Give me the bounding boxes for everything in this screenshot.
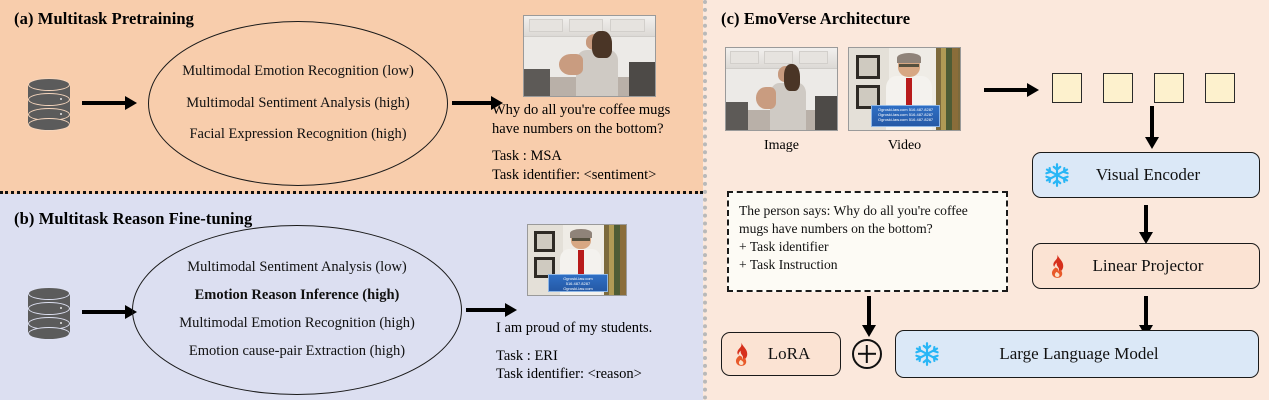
plus-circle-icon — [852, 339, 882, 369]
panel-multitask-reason-finetuning: (b) Multitask Reason Fine-tuning Multimo… — [0, 194, 703, 400]
task-ellipse-a: Multimodal Emotion Recognition (low) Mul… — [148, 21, 448, 186]
thumbnail-video-b: Ogroski-law.com 516.487.8287 Ogroski-law… — [527, 224, 627, 296]
visual-token — [1052, 73, 1082, 103]
module-label: Visual Encoder — [1081, 165, 1259, 185]
task-identifier-label: Task identifier: <reason> — [496, 365, 701, 384]
arrow-db-to-tasks-a — [82, 101, 126, 105]
utterance-line-1: I am proud of my students. — [496, 319, 701, 338]
task-item: Multimodal Emotion Recognition (high) — [179, 316, 415, 332]
prompt-line-2: mugs have numbers on the bottom? — [739, 220, 996, 238]
video-overlay-text: Ogroski-law.com 516.487.8287 Ogroski-law… — [548, 274, 609, 292]
module-label: Large Language Model — [958, 344, 1258, 364]
task-item: Multimodal Sentiment Analysis (high) — [186, 96, 410, 112]
prompt-line-1: The person says: Why do all you're coffe… — [739, 202, 996, 220]
panel-b-title: (b) Multitask Reason Fine-tuning — [14, 209, 252, 229]
prompt-text-box[interactable]: The person says: Why do all you're coffe… — [727, 191, 1008, 292]
snowflake-icon — [1033, 162, 1081, 188]
arrow-tasks-to-output-b — [466, 308, 506, 312]
task-item: Emotion Reason Inference (high) — [195, 288, 400, 304]
database-icon — [28, 78, 70, 128]
output-text-b: I am proud of my students. Task : ERI Ta… — [496, 319, 701, 384]
task-ellipse-b: Multimodal Sentiment Analysis (low) Emot… — [132, 225, 462, 395]
module-large-language-model[interactable]: Large Language Model — [895, 330, 1259, 378]
task-item: Emotion cause-pair Extraction (high) — [189, 344, 405, 360]
input-image-thumbnail — [725, 47, 838, 131]
arrow-db-to-tasks-b — [82, 310, 126, 314]
visual-token — [1103, 73, 1133, 103]
utterance-line-2: have numbers on the bottom? — [492, 120, 702, 139]
panel-multitask-pretraining: (a) Multitask Pretraining Multimodal Emo… — [0, 0, 703, 194]
module-lora[interactable]: LoRA — [721, 332, 841, 376]
visual-token — [1154, 73, 1184, 103]
task-item: Facial Expression Recognition (high) — [189, 127, 406, 143]
task-item: Multimodal Emotion Recognition (low) — [182, 64, 414, 80]
utterance-line-1: Why do all you're coffee mugs — [492, 101, 702, 120]
media-label-video: Video — [848, 138, 961, 154]
module-linear-projector[interactable]: Linear Projector — [1032, 243, 1260, 289]
video-overlay-text: Ogroski-law.com 516.487.8287 Ogroski-law… — [871, 105, 940, 126]
output-text-a: Why do all you're coffee mugs have numbe… — [492, 101, 702, 184]
arrow-media-to-tokens — [984, 88, 1028, 92]
fire-icon — [1033, 254, 1081, 278]
module-label: Linear Projector — [1081, 256, 1259, 276]
prompt-line-4: + Task Instruction — [739, 256, 996, 274]
arrow-tokens-to-visual-encoder — [1150, 106, 1154, 138]
fire-icon — [722, 342, 760, 366]
arrow-tasks-to-output-a — [452, 101, 492, 105]
prompt-line-3: + Task identifier — [739, 238, 996, 256]
figure-root: (a) Multitask Pretraining Multimodal Emo… — [0, 0, 1269, 400]
task-item: Multimodal Sentiment Analysis (low) — [187, 260, 407, 276]
arrow-encoder-to-projector — [1144, 205, 1148, 233]
task-label: Task : MSA — [492, 147, 702, 166]
task-label: Task : ERI — [496, 347, 701, 366]
panel-a-title: (a) Multitask Pretraining — [14, 9, 194, 29]
thumbnail-image-a — [523, 15, 656, 97]
module-label: LoRA — [760, 344, 840, 364]
database-icon — [28, 287, 70, 337]
module-visual-encoder[interactable]: Visual Encoder — [1032, 152, 1260, 198]
media-label-image: Image — [725, 138, 838, 154]
input-video-thumbnail: Ogroski-law.com 516.487.8287 Ogroski-law… — [848, 47, 961, 131]
snowflake-icon — [896, 341, 958, 367]
arrow-projector-to-llm — [1144, 296, 1148, 326]
panel-emoverse-architecture: (c) EmoVerse Architecture Image — [703, 0, 1269, 400]
visual-token — [1205, 73, 1235, 103]
arrow-prompt-to-llm — [867, 296, 871, 326]
panel-c-title: (c) EmoVerse Architecture — [721, 9, 910, 29]
task-identifier-label: Task identifier: <sentiment> — [492, 166, 702, 185]
